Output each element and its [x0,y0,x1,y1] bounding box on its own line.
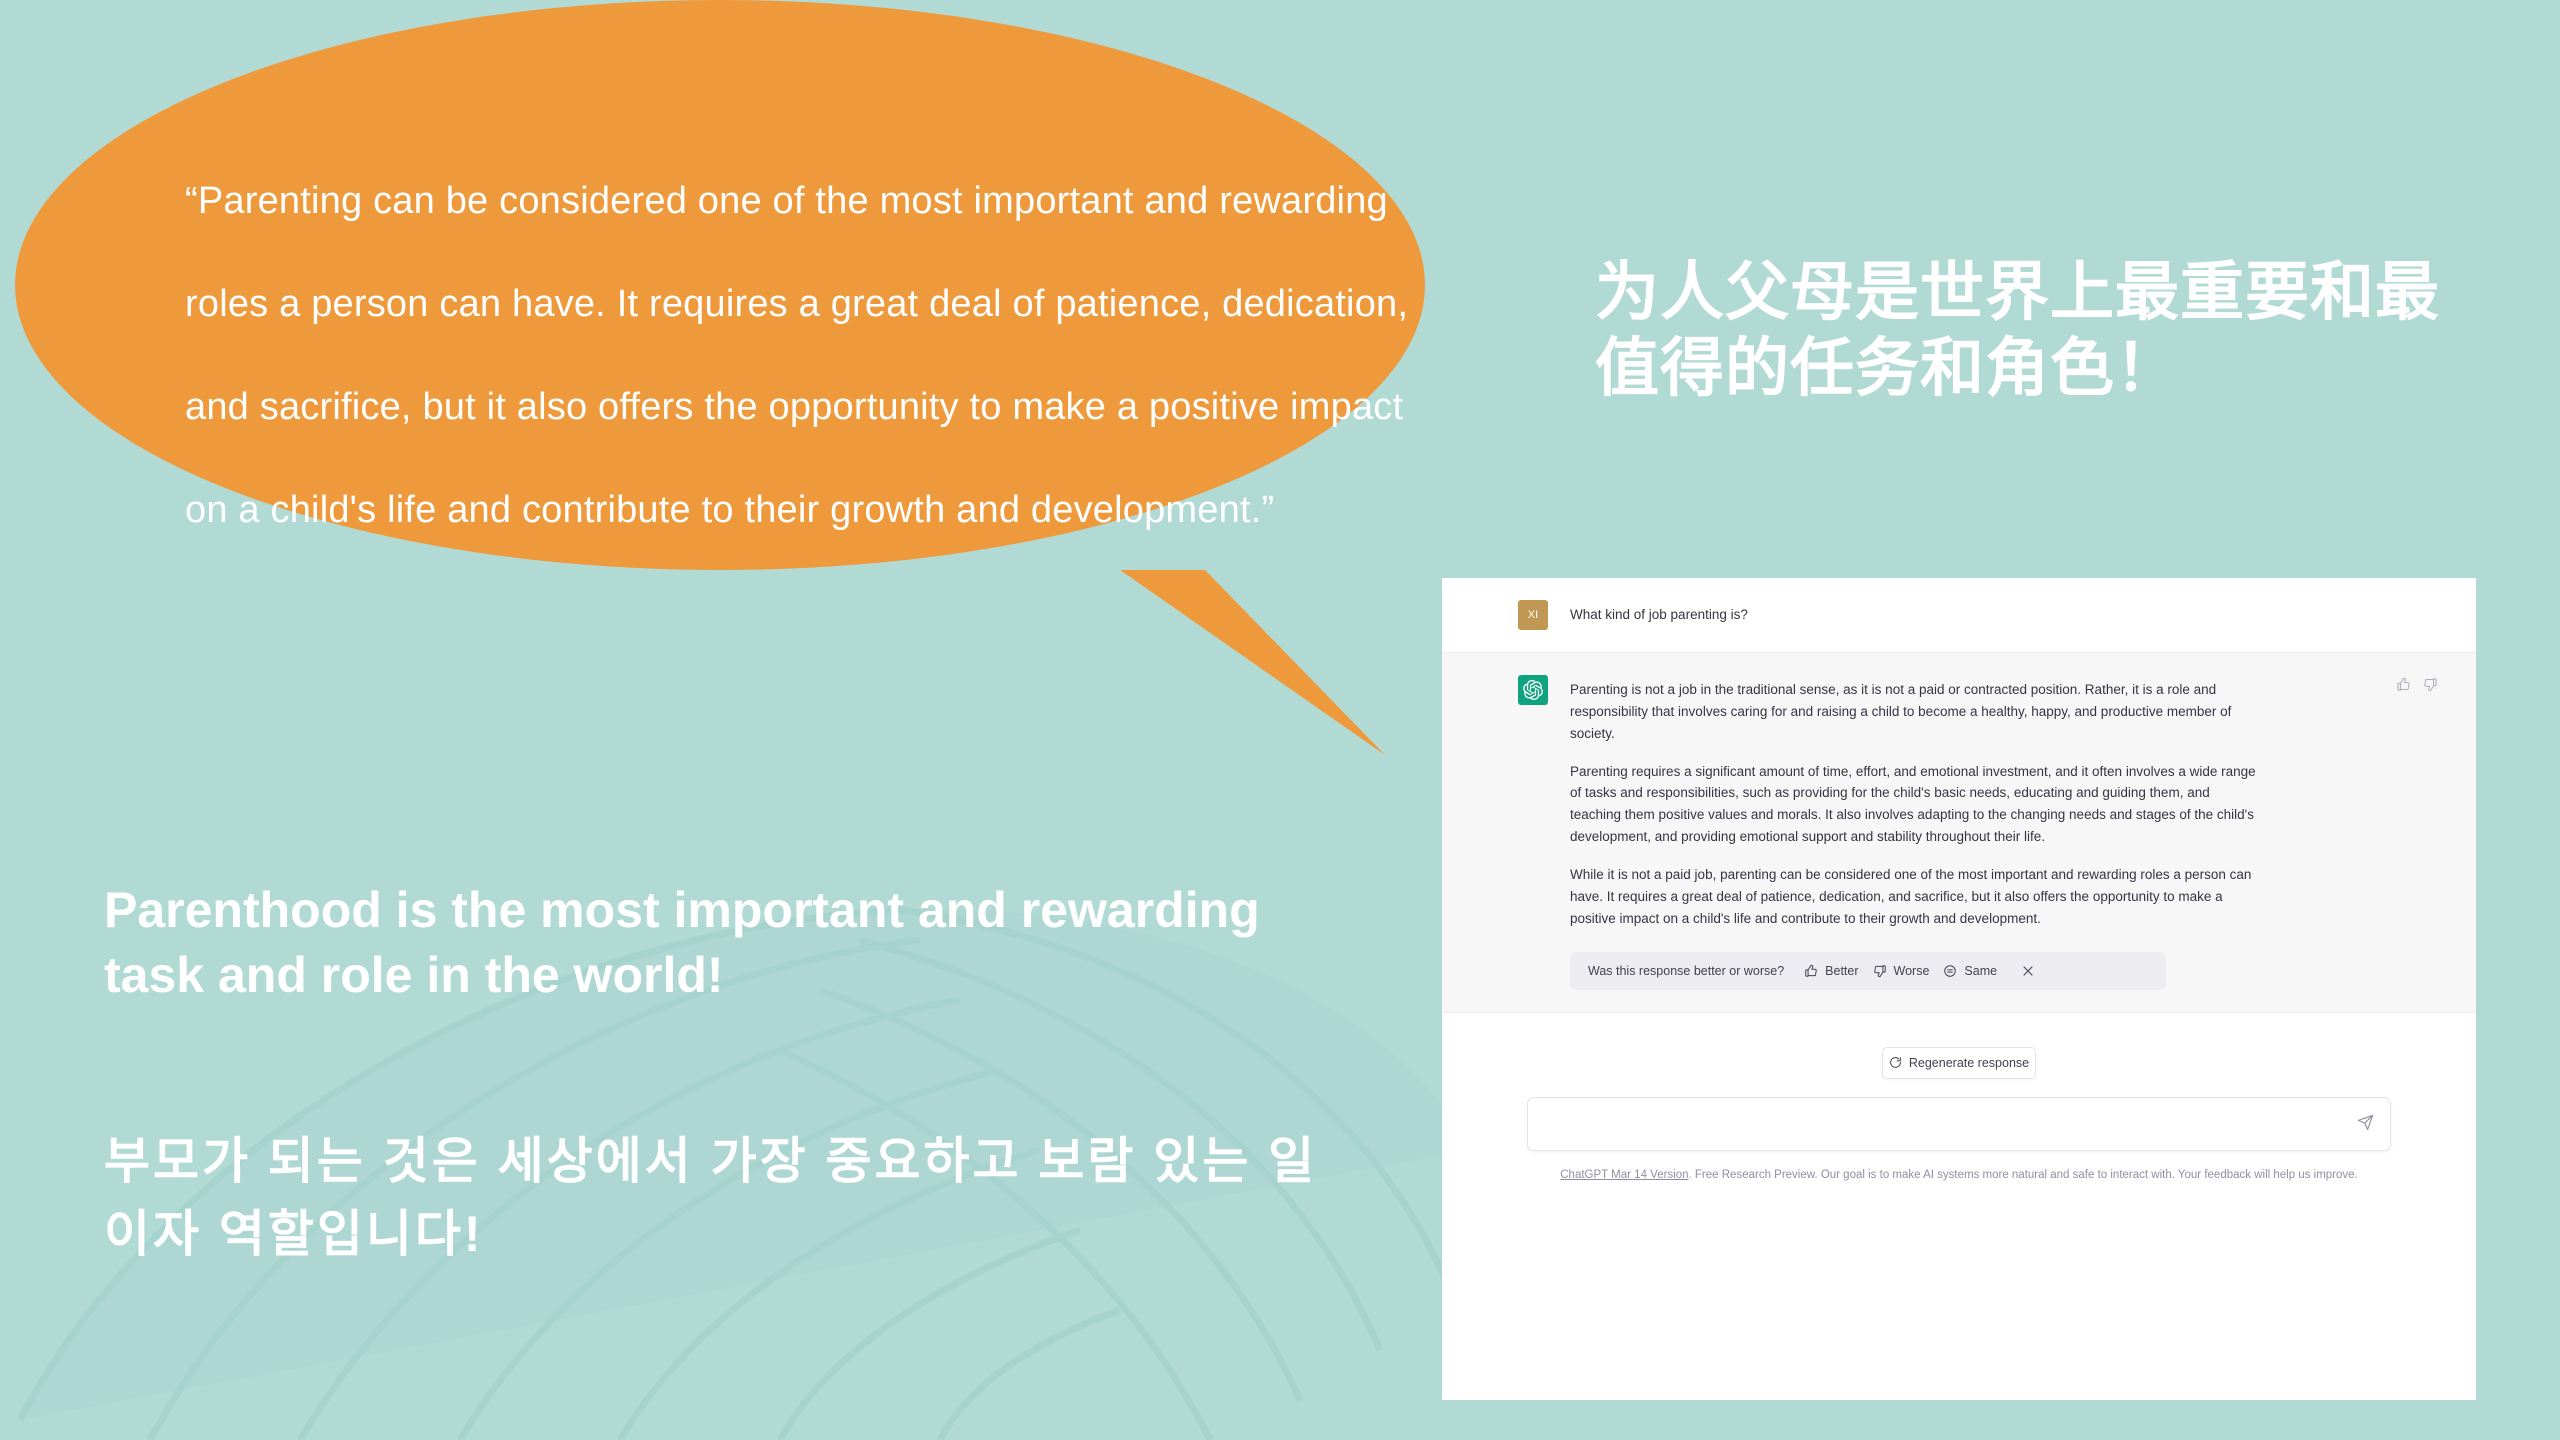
user-message-row: XI What kind of job parenting is? [1442,578,2476,653]
feedback-better-button[interactable]: Better [1804,964,1858,978]
version-link[interactable]: ChatGPT Mar 14 Version [1560,1169,1688,1181]
feedback-prompt: Was this response better or worse? [1588,964,1784,978]
chatgpt-screenshot-panel: XI What kind of job parenting is? Parent… [1442,578,2476,1400]
thumbs-up-icon [1804,964,1818,978]
chatgpt-logo-icon [1518,675,1548,705]
feedback-same-label: Same [1964,964,1997,978]
user-avatar: XI [1518,600,1548,630]
feedback-close-button[interactable] [2021,964,2035,978]
headline-korean: 부모가 되는 것은 세상에서 가장 중요하고 보람 있는 일이자 역할입니다! [104,1125,1354,1270]
thumbs-down-button[interactable] [2423,677,2438,692]
refresh-icon [1889,1056,1902,1069]
close-icon [2021,964,2035,978]
composer-area: Regenerate response ChatGPT Mar 14 Versi… [1442,1013,2476,1227]
assistant-paragraph-3: While it is not a paid job, parenting ca… [1570,864,2260,930]
response-vote-icons [2396,677,2438,692]
feedback-worse-button[interactable]: Worse [1873,964,1930,978]
thumbs-up-button[interactable] [2396,677,2411,692]
message-input[interactable] [1544,1098,2338,1152]
headline-chinese: 为人父母是世界上最重要和最值得的任务和角色！ [1595,255,2495,406]
feedback-same-button[interactable]: Same [1943,964,1997,978]
assistant-paragraph-2: Parenting requires a significant amount … [1570,761,2260,848]
quote-text: “Parenting can be considered one of the … [185,150,1415,562]
message-composer[interactable] [1527,1097,2391,1151]
regenerate-response-label: Regenerate response [1909,1056,2029,1070]
send-button[interactable] [2357,1114,2374,1134]
assistant-message-row: Parenting is not a job in the traditiona… [1442,653,2476,1013]
feedback-worse-label: Worse [1894,964,1930,978]
thumbs-up-icon [2396,677,2411,692]
equals-circle-icon [1943,964,1957,978]
chat-footer: ChatGPT Mar 14 Version. Free Research Pr… [1479,1167,2439,1183]
footer-disclaimer: . Free Research Preview. Our goal is to … [1689,1169,2358,1181]
quote-speech-bubble: “Parenting can be considered one of the … [10,0,1430,785]
send-paper-plane-icon [2357,1114,2374,1131]
feedback-bar: Was this response better or worse? Bette… [1570,952,2166,990]
assistant-message-body: Parenting is not a job in the traditiona… [1570,675,2438,990]
headline-english: Parenthood is the most important and rew… [104,878,1354,1008]
thumbs-down-icon [1873,964,1887,978]
poster-canvas: “Parenting can be considered one of the … [0,0,2560,1440]
feedback-better-label: Better [1825,964,1858,978]
assistant-paragraph-1: Parenting is not a job in the traditiona… [1570,679,2260,745]
thumbs-down-icon [2423,677,2438,692]
user-message-body: What kind of job parenting is? [1570,600,2438,630]
regenerate-response-button[interactable]: Regenerate response [1882,1047,2036,1079]
user-message-text: What kind of job parenting is? [1570,604,2260,626]
